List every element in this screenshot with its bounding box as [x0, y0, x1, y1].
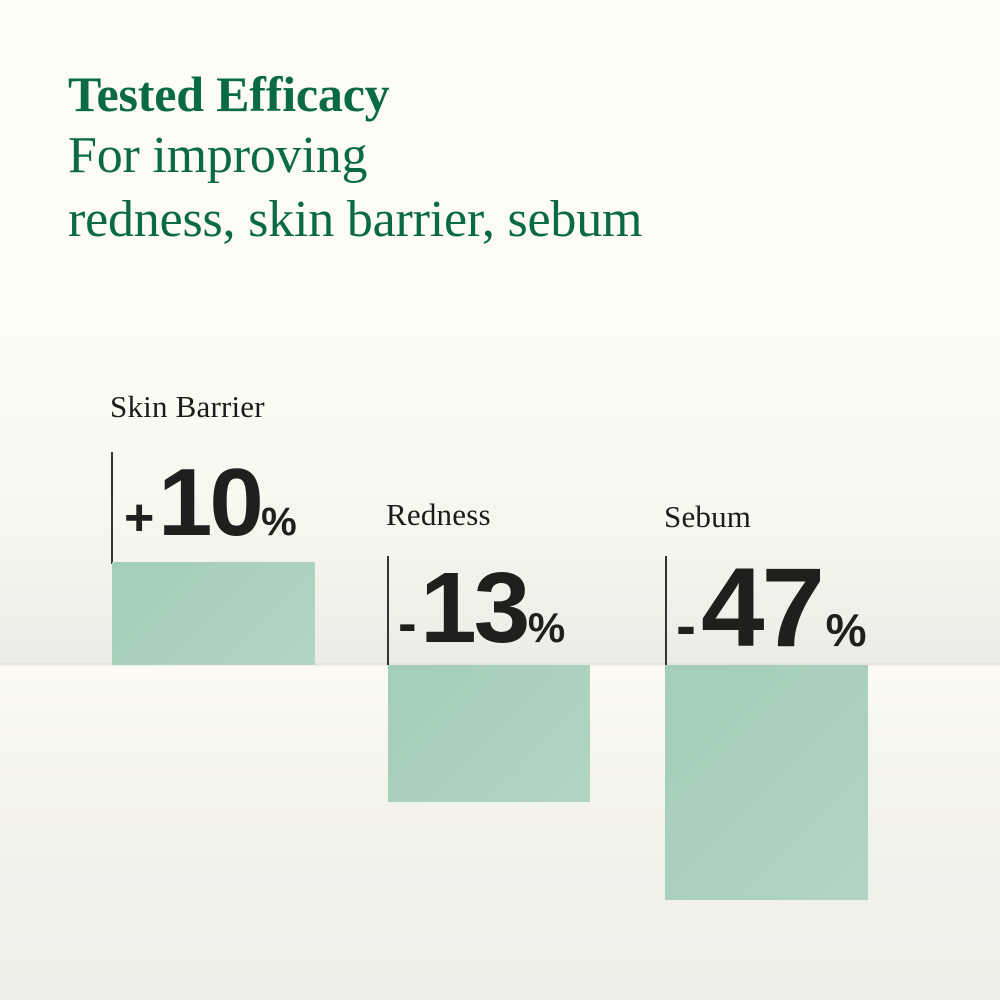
efficacy-bar-chart: Skin Barrier + 10 % Redness - 13 % Sebum: [0, 0, 1000, 1000]
metric-value-skin-barrier: + 10 %: [124, 455, 297, 560]
metric-label-sebum: Sebum: [664, 500, 751, 534]
metric-value-sebum: - 47 %: [676, 552, 866, 665]
metric-bar-redness: [388, 665, 590, 802]
metric-sign-redness: -: [398, 595, 417, 651]
metric-rule-skin-barrier: [111, 452, 113, 564]
metric-percent-skin-barrier: %: [261, 502, 297, 542]
metric-percent-redness: %: [528, 607, 565, 649]
metric-value-redness: - 13 %: [398, 558, 565, 665]
metric-rule-sebum: [665, 556, 667, 665]
metric-number-skin-barrier: 10: [158, 455, 261, 551]
metric-rule-redness: [387, 556, 389, 665]
metric-sign-sebum: -: [676, 596, 696, 656]
metric-percent-sebum: %: [826, 607, 867, 653]
metric-number-sebum: 47: [701, 552, 822, 664]
metric-label-skin-barrier: Skin Barrier: [110, 390, 265, 424]
metric-bar-skin-barrier: [112, 562, 315, 665]
efficacy-infographic: Tested Efficacy For improving redness, s…: [0, 0, 1000, 1000]
metric-label-redness: Redness: [386, 498, 491, 532]
metric-sign-skin-barrier: +: [124, 492, 154, 544]
metric-bar-sebum: [665, 665, 868, 900]
metric-number-redness: 13: [420, 558, 527, 658]
